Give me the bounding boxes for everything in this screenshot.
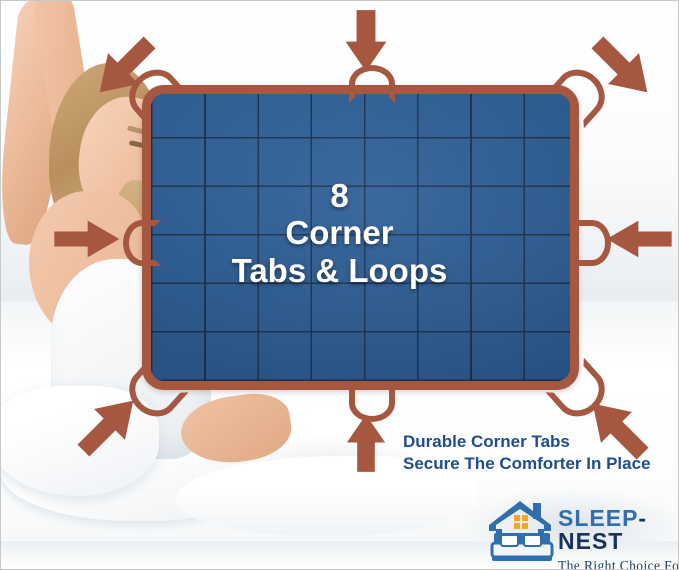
- arrow-right-middle-icon: [605, 219, 675, 259]
- brand-logo: SLEEP-NEST The Right Choice For You: [486, 499, 676, 565]
- logo-name-dash: -: [638, 505, 647, 531]
- arrow-top-center-icon: [342, 7, 390, 73]
- arrow-bottom-center-icon: [344, 413, 388, 475]
- product-image-canvas: 8 Corner Tabs & Loops: [0, 0, 679, 570]
- logo-name: SLEEP-NEST: [558, 507, 679, 553]
- tab-loop-left-middle: [123, 220, 161, 266]
- logo-name-nest: NEST: [558, 528, 623, 554]
- arrow-top-right-icon: [578, 23, 662, 107]
- caption-line-2: Secure The Comforter In Place: [403, 453, 651, 475]
- feature-caption: Durable Corner Tabs Secure The Comforter…: [403, 431, 651, 476]
- arrow-bottom-left-icon: [64, 386, 148, 470]
- logo-wordmark: SLEEP-NEST The Right Choice For You: [558, 507, 679, 570]
- blue-comforter: [142, 85, 579, 390]
- arrow-top-left-icon: [85, 23, 169, 107]
- quilt-sheen: [151, 94, 570, 381]
- caption-line-1: Durable Corner Tabs: [403, 431, 651, 453]
- house-with-bed-icon: [486, 499, 558, 563]
- logo-tagline: The Right Choice For You: [558, 558, 679, 570]
- arrow-left-middle-icon: [51, 219, 121, 259]
